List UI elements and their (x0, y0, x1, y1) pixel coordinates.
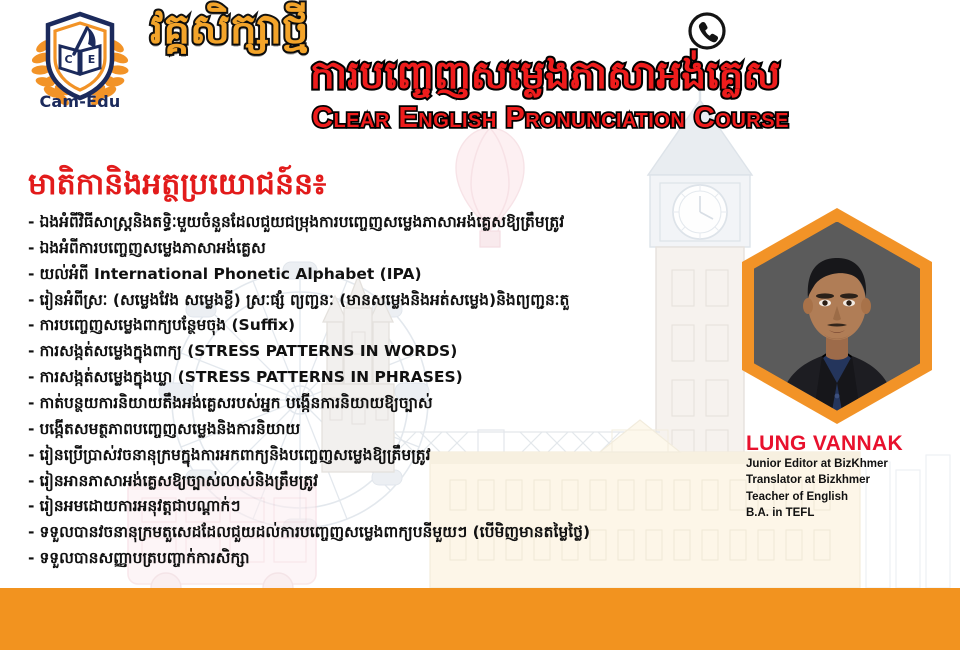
list-item: -ឯងអំពីការបញ្ចេញសម្លេងភាសាអង់គ្លេស (28, 240, 688, 256)
bullet-marker: - (28, 498, 34, 514)
credential-item: Translator at Bizkhmer (746, 472, 888, 488)
bullet-marker: - (28, 317, 34, 333)
topic-label: បង្កើតសមត្ថភាពបញ្ចេញសម្លេងនិងការនិយាយ (39, 421, 300, 437)
logo-letter-c: C (64, 53, 72, 66)
list-item: -ការសង្កត់សម្លេងក្នុងពាក្យ (STRESS PATTE… (28, 343, 688, 359)
page-title-khmer: ការបញ្ចេញសម្លេងភាសាអង់គ្លេស (310, 56, 780, 96)
bullet-marker: - (28, 524, 34, 540)
credential-item: Junior Editor at BizKhmer (746, 456, 888, 472)
logo-wordmark: Cam-Edu (24, 92, 136, 111)
list-item: -រៀនអំពីស្រៈ (សម្លេងវែង សម្លេងខ្លី) ស្រៈ… (28, 292, 688, 308)
instructor-name: LUNG VANNAK (746, 432, 903, 456)
topic-label: រៀនប្រើប្រាស់វចនានុក្រមក្នុងការអកពាក្យនិ… (39, 447, 430, 463)
list-item: -ការសង្កត់សម្លេងក្នុងឃ្លា (STRESS PATTER… (28, 369, 688, 385)
list-item: -ការបញ្ចេញសម្លេងពាក្យបន្ថែមចុង (Suffix) (28, 317, 688, 333)
list-item: -ទទួលបានវចនានុក្រមតួសេដដែលជួយដល់ការបញ្ចេ… (28, 524, 688, 540)
phone-icon (688, 12, 726, 50)
bullet-marker: - (28, 550, 34, 566)
bullet-marker: - (28, 343, 34, 359)
topic-label: រៀនអំពីស្រៈ (សម្លេងវែង សម្លេងខ្លី) ស្រៈផ… (39, 292, 569, 308)
topic-label: រៀនអមដោយការអនុវត្តជាបណ្តាក់ៗ (39, 498, 240, 514)
list-item: -យល់អំពី International Phonetic Alphabet… (28, 266, 688, 282)
topic-label: ទទួលបានសញ្ញាបត្របញ្ចាក់ការសិក្សា (39, 550, 249, 566)
instructor-photo-frame (742, 208, 932, 424)
bullet-marker: - (28, 369, 34, 385)
bullet-marker: - (28, 447, 34, 463)
topic-label: ការបញ្ចេញសម្លេងពាក្យបន្ថែមចុង (Suffix) (39, 317, 295, 333)
bullet-marker: - (28, 240, 34, 256)
page-title-english: Clear English Pronunciation Course (312, 104, 789, 133)
topic-label: ទទួលបានវចនានុក្រមតួសេដដែលជួយដល់ការបញ្ចេញ… (39, 524, 590, 540)
course-topic-list: -ឯងអំពីវិធីសាស្ត្រនិងតទ្ធិៈមួយចំនួនដែលជួ… (28, 214, 688, 576)
topic-label: ឯងអំពីការបញ្ចេញសម្លេងភាសាអង់គ្លេស (39, 240, 265, 256)
portrait-illustration (754, 222, 920, 411)
list-item: -ទទួលបានសញ្ញាបត្របញ្ចាក់ការសិក្សា (28, 550, 688, 566)
instructor-credentials: Junior Editor at BizKhmer Translator at … (746, 456, 888, 521)
list-item: -ឯងអំពីវិធីសាស្ត្រនិងតទ្ធិៈមួយចំនួនដែលជួ… (28, 214, 688, 230)
list-item: -រៀនអមដោយការអនុវត្តជាបណ្តាក់ៗ (28, 498, 688, 514)
hexagon-border (742, 208, 932, 424)
topic-label: ការសង្កត់សម្លេងក្នុងពាក្យ (STRESS PATTER… (39, 343, 457, 359)
instructor-avatar (754, 222, 920, 411)
eyebrow-title-khmer: វគ្គសិក្សាថ្មី (150, 8, 309, 50)
credential-item: B.A. in TEFL (746, 505, 888, 521)
topic-label: យល់អំពី International Phonetic Alphabet … (39, 266, 421, 282)
course-poster: C E Cam-Edu វគ្គសិក្សាថ្មី ការបញ្ចេញសម្ល… (0, 0, 960, 650)
topic-label: កាត់បន្ថយការនិយាយតឹងអង់គ្លេសរបស់អ្នក បង្… (39, 395, 432, 411)
content-section-heading: មាតិកានិងអត្ថប្រយោជន៍ន៖ (28, 168, 326, 203)
bullet-marker: - (28, 266, 34, 282)
phone-number[interactable]: 096 354 5925 (742, 12, 927, 50)
bullet-marker: - (28, 214, 34, 230)
list-item: -រៀនប្រើប្រាស់វចនានុក្រមក្នុងការអកពាក្យន… (28, 447, 688, 463)
credential-item: Teacher of English (746, 489, 888, 505)
bullet-marker: - (28, 473, 34, 489)
bullet-marker: - (28, 292, 34, 308)
topic-label: ឯងអំពីវិធីសាស្ត្រនិងតទ្ធិៈមួយចំនួនដែលជួយ… (39, 214, 564, 230)
bullet-marker: - (28, 421, 34, 437)
topic-label: ការសង្កត់សម្លេងក្នុងឃ្លា (STRESS PATTERN… (39, 369, 462, 385)
topic-label: រៀនអានភាសាអង់គ្លេសឱ្យច្បាស់លាស់និងត្រឹមត… (39, 473, 318, 489)
list-item: -រៀនអានភាសាអង់គ្លេសឱ្យច្បាស់លាស់និងត្រឹម… (28, 473, 688, 489)
list-item: -បង្កើតសមត្ថភាពបញ្ចេញសម្លេងនិងការនិយាយ (28, 421, 688, 437)
logo-letter-e: E (88, 53, 96, 66)
list-item: -កាត់បន្ថយការនិយាយតឹងអង់គ្លេសរបស់អ្នក បង… (28, 395, 688, 411)
contact-footer-bar (0, 588, 960, 650)
bullet-marker: - (28, 395, 34, 411)
